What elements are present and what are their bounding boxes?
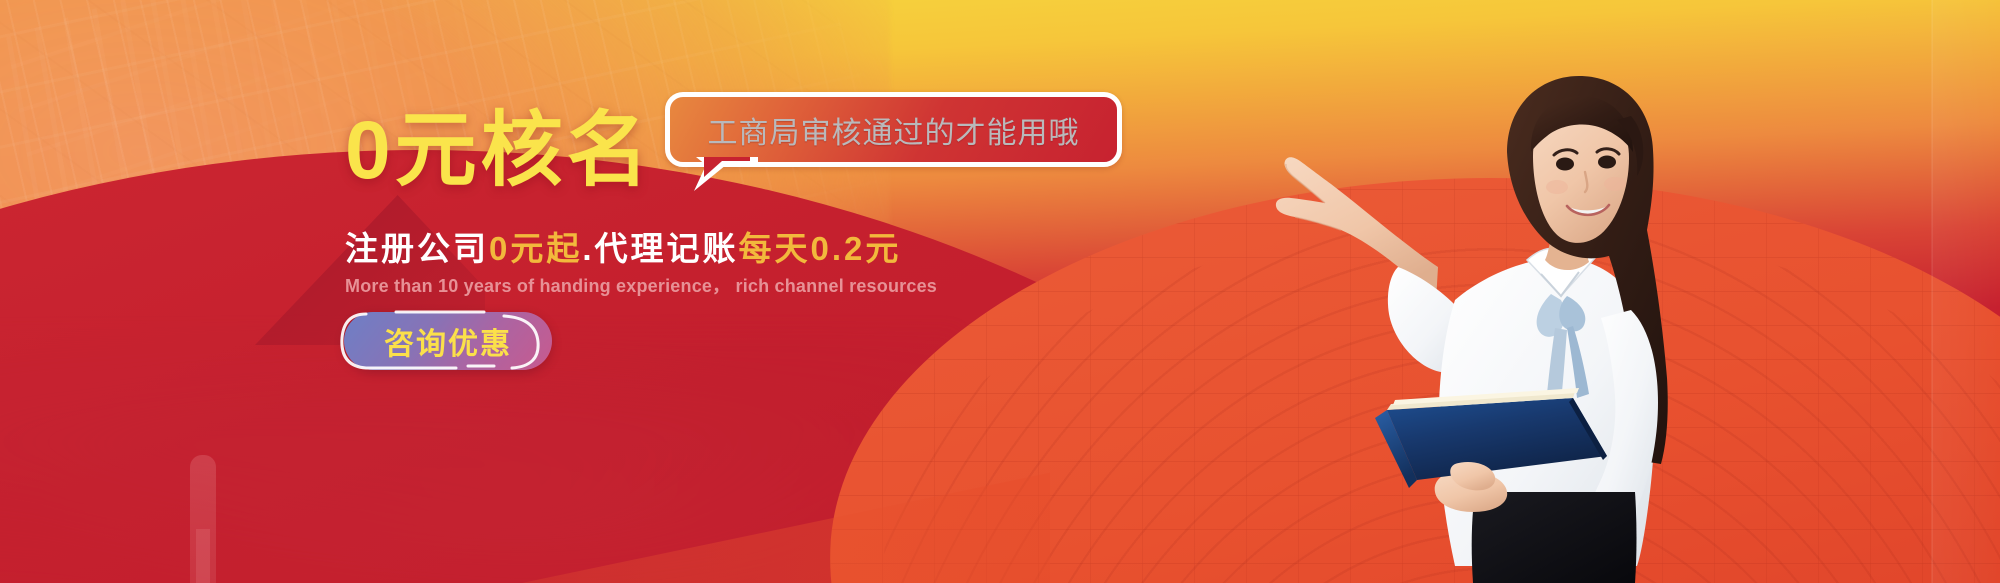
tagline: More than 10 years of handing experience… [345,272,937,298]
subtitle-part-2: 0元起 [489,230,582,267]
subtitle-part-1: 注册公司 [345,230,489,267]
cta-container: 咨询优惠 [336,308,560,374]
consult-offer-button-label: 咨询优惠 [384,319,512,363]
speech-bubble-label: 工商局审核通过的才能用哦 [708,108,1080,152]
page-title: 0元核名 [345,110,653,192]
consult-offer-button[interactable]: 咨询优惠 [344,312,552,370]
subtitle-part-4: 每天0.2元 [739,230,902,267]
promo-banner: 0元核名 工商局审核通过的才能用哦 注册公司0元起.代理记账每天0.2元 Mor… [0,0,2000,583]
subtitle-part-3: .代理记账 [582,230,738,267]
subtitle: 注册公司0元起.代理记账每天0.2元 [345,222,901,270]
speech-bubble-icon: 工商局审核通过的才能用哦 [665,92,1122,167]
speech-bubble-tail-icon [692,157,764,193]
